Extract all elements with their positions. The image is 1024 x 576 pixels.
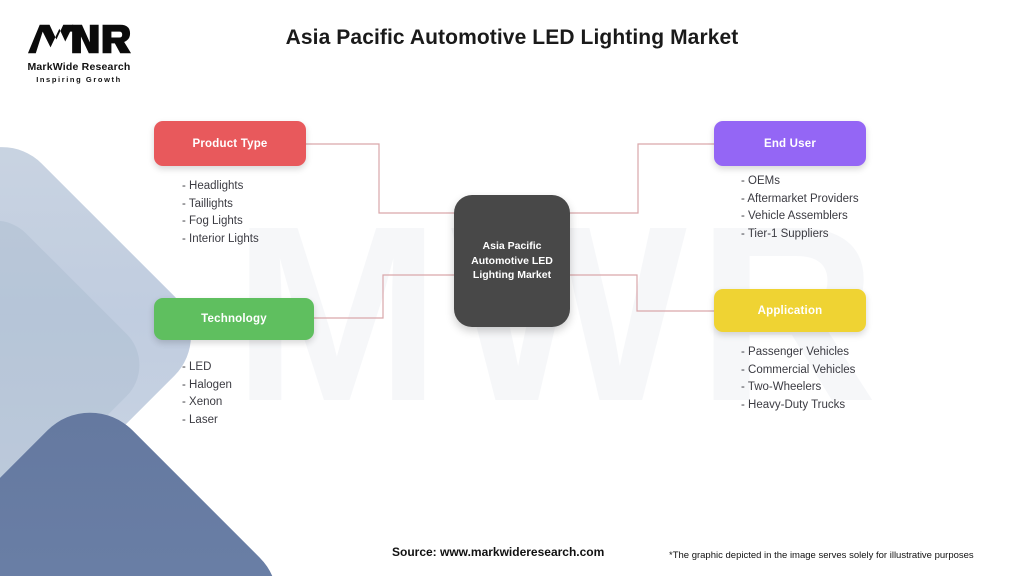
list-item: - Xenon bbox=[182, 394, 232, 412]
list-item: - Taillights bbox=[182, 196, 259, 214]
list-end-user: - OEMs - Aftermarket Providers - Vehicle… bbox=[741, 173, 859, 243]
list-item: - LED bbox=[182, 359, 232, 377]
connector-application bbox=[570, 275, 714, 311]
center-node-line-2: Automotive LED bbox=[471, 254, 553, 268]
list-item: - Two-Wheelers bbox=[741, 379, 855, 397]
list-item: - Passenger Vehicles bbox=[741, 344, 855, 362]
connector-product-type bbox=[306, 144, 454, 213]
list-item: - Fog Lights bbox=[182, 213, 259, 231]
list-product-type: - Headlights - Taillights - Fog Lights -… bbox=[182, 178, 259, 248]
list-application: - Passenger Vehicles - Commercial Vehicl… bbox=[741, 344, 855, 414]
list-item: - Commercial Vehicles bbox=[741, 362, 855, 380]
diagram-canvas: MWR MarkWide Research Inspiring Growth A… bbox=[0, 0, 1024, 576]
list-item: - Headlights bbox=[182, 178, 259, 196]
node-technology-label: Technology bbox=[201, 313, 267, 325]
center-node-label: Asia Pacific Automotive LED Lighting Mar… bbox=[463, 239, 561, 282]
list-item: - Aftermarket Providers bbox=[741, 191, 859, 209]
list-technology: - LED - Halogen - Xenon - Laser bbox=[182, 359, 232, 429]
center-node[interactable]: Asia Pacific Automotive LED Lighting Mar… bbox=[454, 195, 570, 327]
center-node-line-1: Asia Pacific bbox=[471, 239, 553, 253]
source-text: Source: www.markwideresearch.com bbox=[392, 545, 604, 559]
list-item: - Halogen bbox=[182, 377, 232, 395]
connector-technology bbox=[314, 275, 454, 318]
list-item: - Interior Lights bbox=[182, 231, 259, 249]
node-technology[interactable]: Technology bbox=[154, 298, 314, 340]
disclaimer-text: *The graphic depicted in the image serve… bbox=[669, 550, 974, 561]
list-item: - Laser bbox=[182, 412, 232, 430]
center-node-line-3: Lighting Market bbox=[471, 268, 553, 282]
list-item: - Vehicle Assemblers bbox=[741, 208, 859, 226]
list-item: - Tier-1 Suppliers bbox=[741, 226, 859, 244]
node-application-label: Application bbox=[758, 305, 823, 317]
node-end-user[interactable]: End User bbox=[714, 121, 866, 166]
list-item: - OEMs bbox=[741, 173, 859, 191]
connector-end-user bbox=[570, 144, 714, 213]
node-application[interactable]: Application bbox=[714, 289, 866, 332]
node-product-type[interactable]: Product Type bbox=[154, 121, 306, 166]
node-end-user-label: End User bbox=[764, 138, 816, 150]
node-product-type-label: Product Type bbox=[192, 138, 267, 150]
list-item: - Heavy-Duty Trucks bbox=[741, 397, 855, 415]
